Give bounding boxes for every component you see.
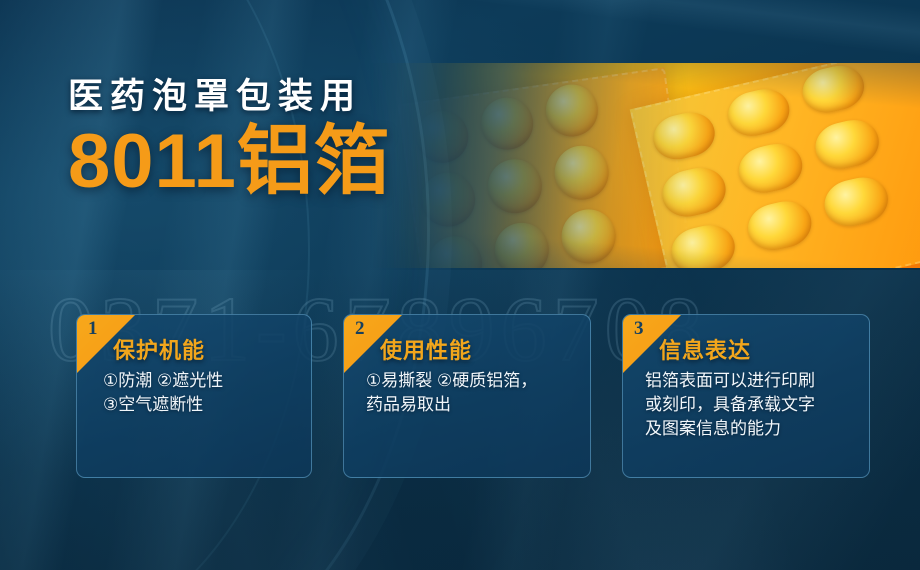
- card-body: 铝箔表面可以进行印刷 或刻印，具备承载文字 及图案信息的能力: [645, 369, 857, 441]
- feature-card-list: 1 保护机能 ①防潮 ②遮光性 ③空气遮断性 2 使用性能 ①易撕裂 ②硬质铝箔…: [76, 314, 870, 478]
- headline-subtitle: 医药泡罩包装用: [68, 78, 391, 117]
- card-line: 药品易取出: [366, 393, 578, 417]
- card-body: ①易撕裂 ②硬质铝箔， 药品易取出: [366, 369, 578, 417]
- feature-card-2[interactable]: 2 使用性能 ①易撕裂 ②硬质铝箔， 药品易取出: [343, 314, 591, 478]
- card-line: ①易撕裂 ②硬质铝箔，: [366, 369, 578, 393]
- headline-main: 8011铝箔: [68, 123, 391, 201]
- card-line: 或刻印，具备承载文字: [645, 393, 857, 417]
- feature-card-3[interactable]: 3 信息表达 铝箔表面可以进行印刷 或刻印，具备承载文字 及图案信息的能力: [622, 314, 870, 478]
- promo-banner: 0371-67896708 医药泡罩包装用 8011铝箔 1 保护机能 ①防潮 …: [0, 0, 920, 570]
- card-heading: 保护机能: [113, 333, 205, 365]
- feature-card-1[interactable]: 1 保护机能 ①防潮 ②遮光性 ③空气遮断性: [76, 314, 312, 478]
- card-number: 2: [355, 318, 365, 340]
- card-line: 铝箔表面可以进行印刷: [645, 369, 857, 393]
- photo-blue-blend: [370, 63, 920, 268]
- card-body: ①防潮 ②遮光性 ③空气遮断性: [103, 369, 299, 417]
- card-line: ③空气遮断性: [103, 393, 299, 417]
- blister-pack-photo: [370, 63, 920, 268]
- title-block: 医药泡罩包装用 8011铝箔: [68, 78, 391, 200]
- card-number: 1: [88, 318, 98, 340]
- card-line: ①防潮 ②遮光性: [103, 369, 299, 393]
- card-number: 3: [634, 318, 644, 340]
- card-line: 及图案信息的能力: [645, 417, 857, 441]
- card-heading: 信息表达: [659, 333, 751, 365]
- card-heading: 使用性能: [380, 333, 472, 365]
